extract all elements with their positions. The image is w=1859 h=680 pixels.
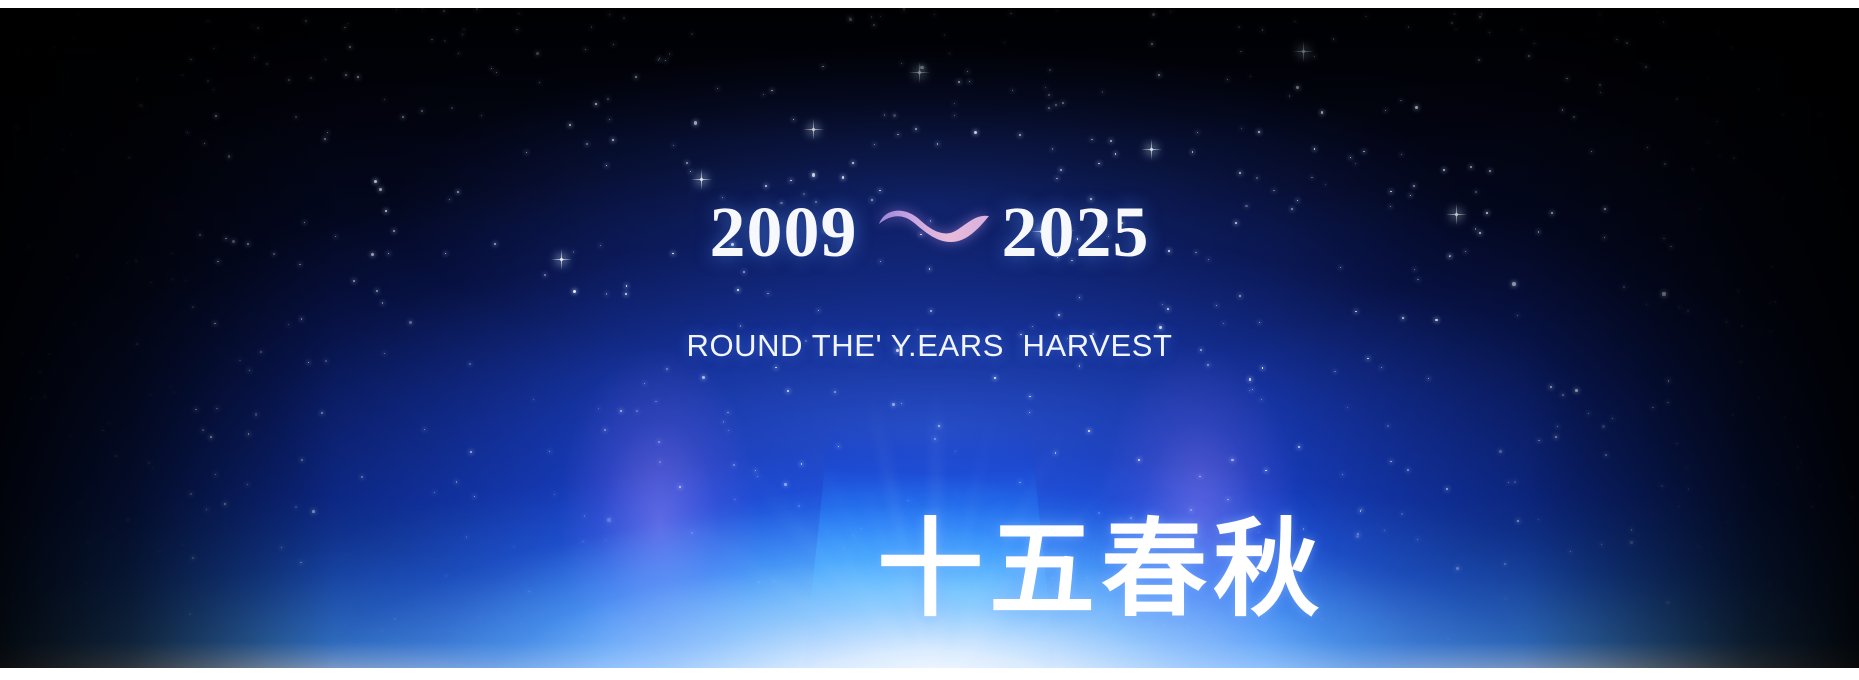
- banner-canvas: 2009 2025: [0, 8, 1859, 668]
- wave-tilde-icon: [872, 204, 996, 248]
- banner-subtitle: ROUND THE' Y.EARS HARVEST: [0, 328, 1859, 364]
- banner-headline: 十五春秋 高科前行: [0, 392, 1859, 668]
- year-range: 2009 2025: [0, 196, 1859, 268]
- banner-content: 2009 2025: [0, 8, 1859, 668]
- headline-left: 十五春秋: [877, 508, 1325, 631]
- banner-frame: 2009 2025: [0, 0, 1859, 680]
- year-start: 2009: [710, 196, 858, 268]
- year-end: 2025: [1002, 196, 1150, 268]
